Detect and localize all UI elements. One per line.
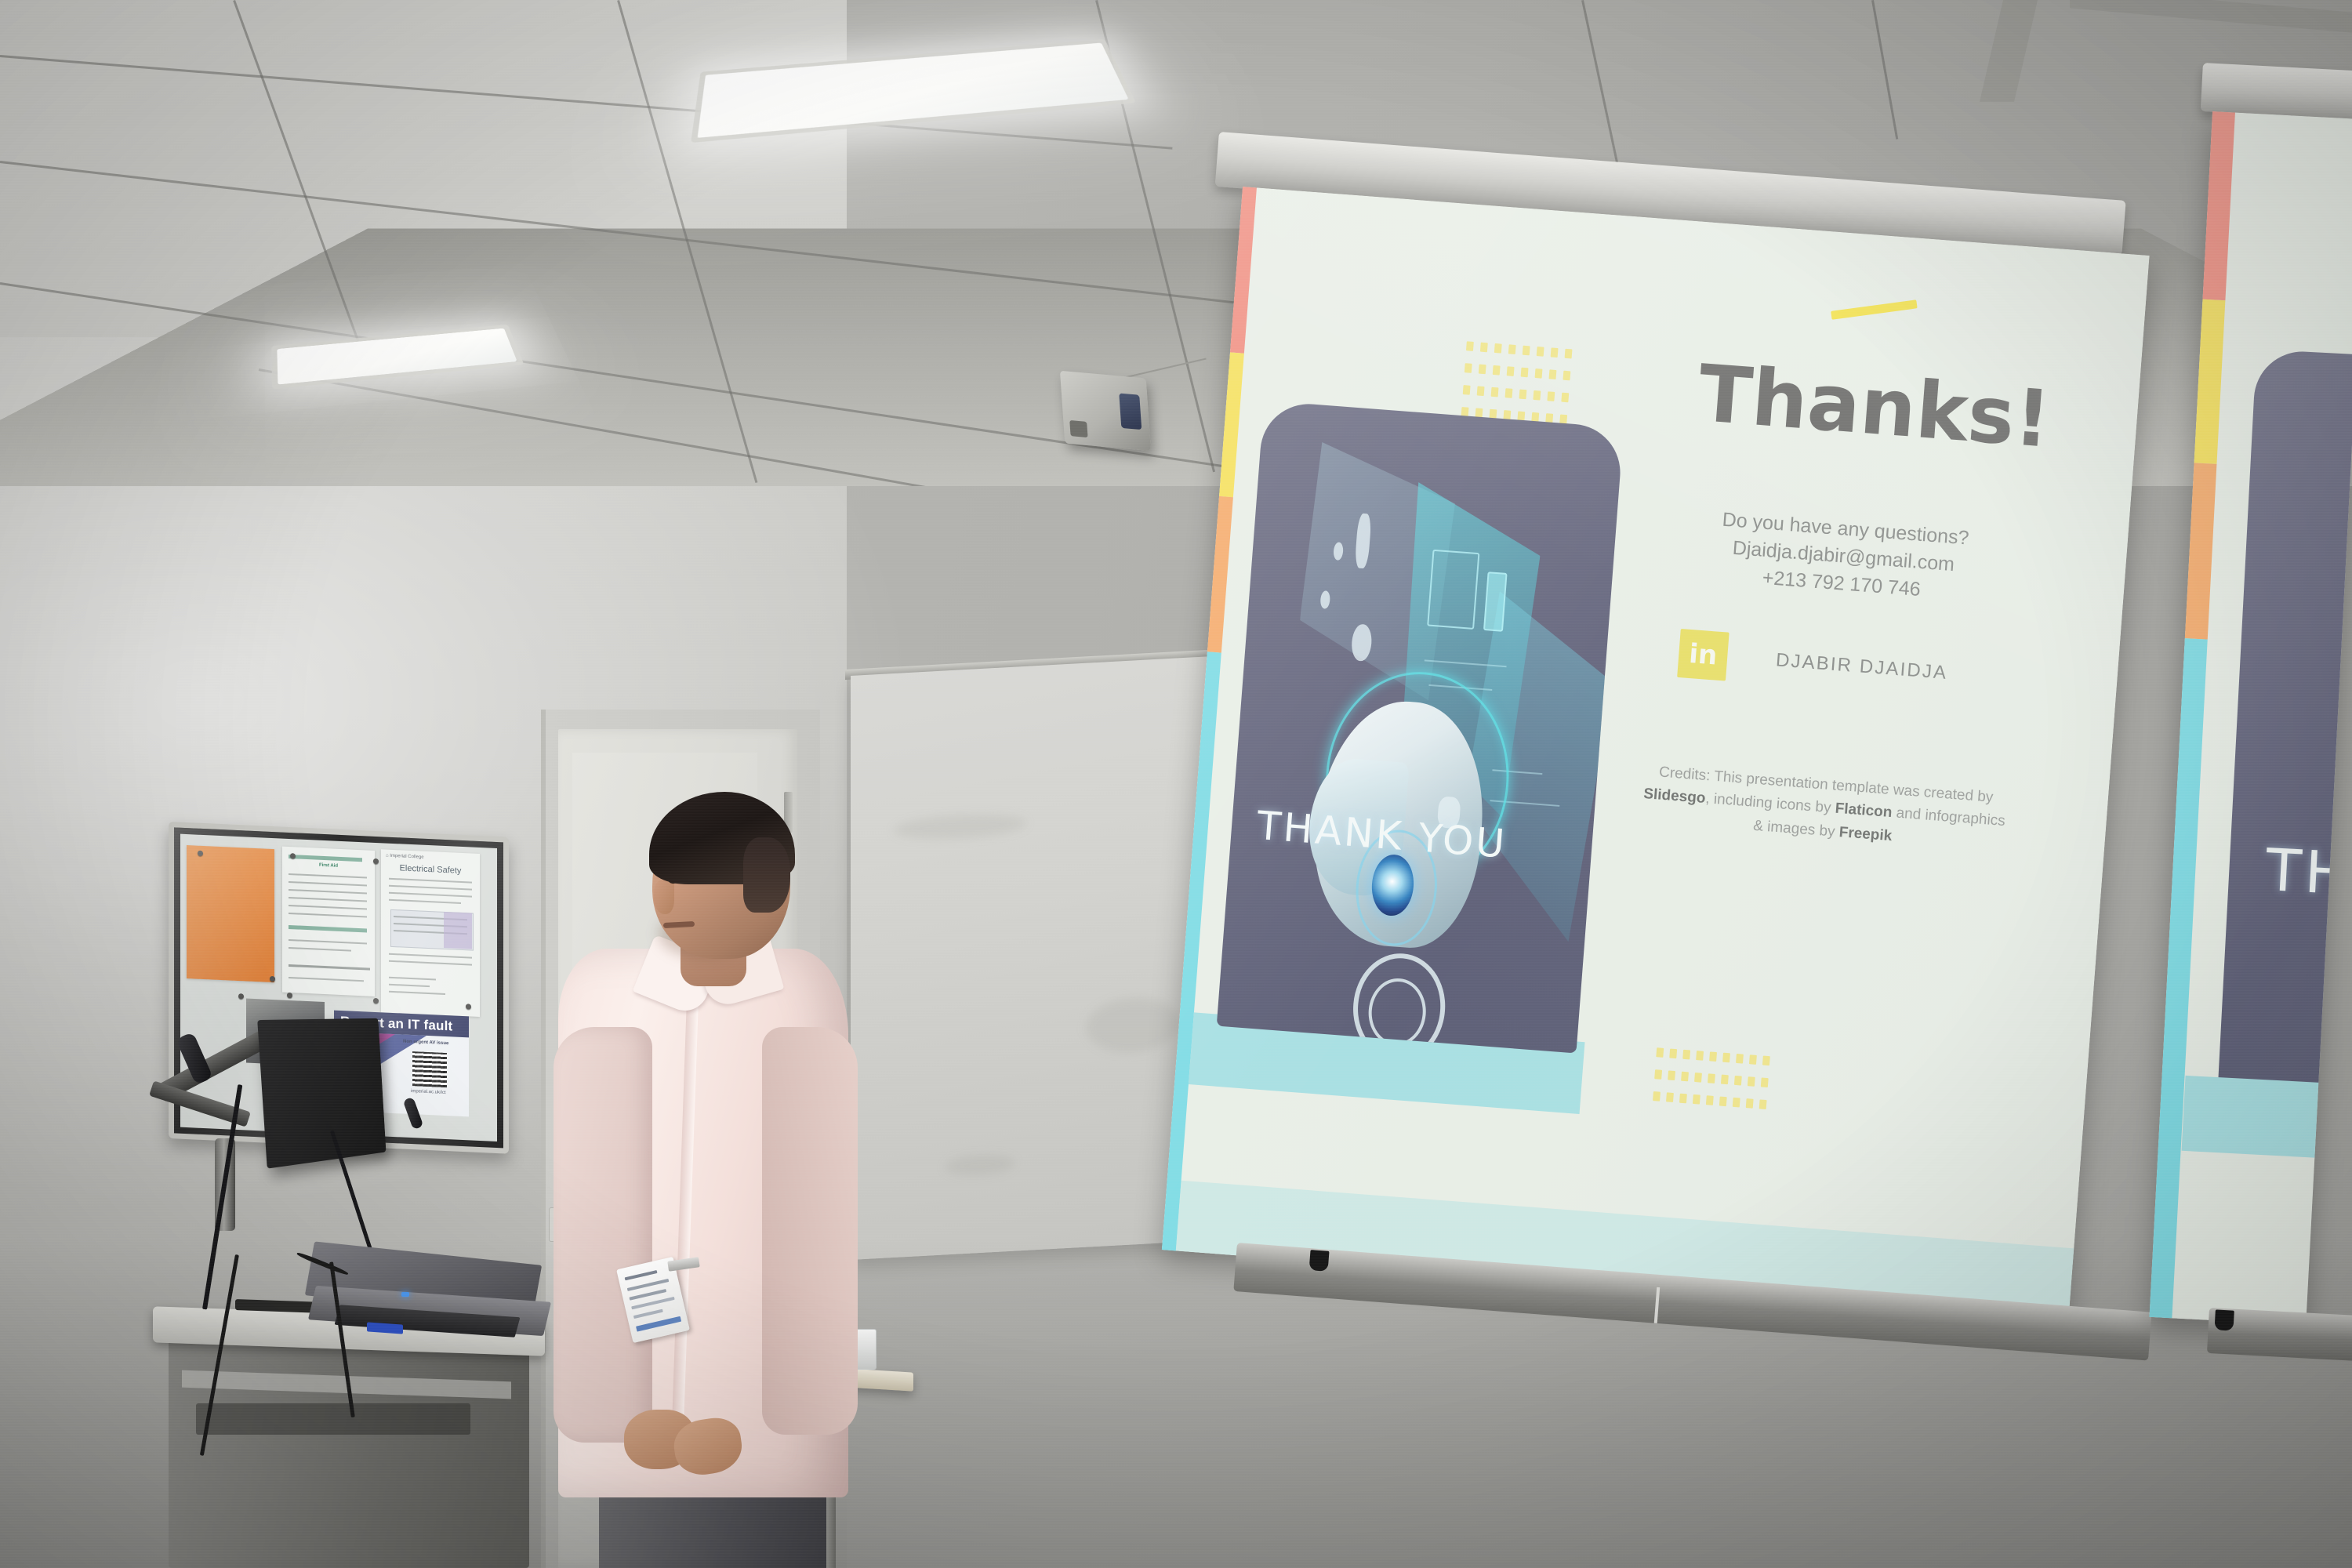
pin [238,993,244,999]
credits-line2-mid: , including icons by [1705,790,1836,817]
accent-dash [1831,299,1917,320]
projection-screen-weight-bar-secondary [2207,1308,2352,1361]
presenter-arm-right [762,1027,858,1435]
pin [373,858,379,864]
projection-screen-main: THANK YOU Thanks! Do you have any questi… [1162,187,2150,1319]
wall-mounted-av-device [1060,371,1151,451]
linkedin-icon[interactable]: in [1677,629,1730,681]
presenter-name: DJABIR DJAIDJA [1775,649,1948,684]
credits-line3: & images by [1753,818,1840,840]
slide-thanks: THANK YOU Thanks! Do you have any questi… [1162,187,2150,1319]
poster-electrical-safety: ⌂ Imperial College Electrical Safety [381,849,480,1017]
poster-first-aid: First Aid [282,847,375,996]
slide-image-card: THANK YOU [1217,401,1624,1054]
lectern-panel [196,1403,470,1435]
qr-code [412,1051,447,1087]
robot-illustration [1281,418,1624,1053]
presenter-nose [654,880,674,914]
screen-pull-tab[interactable] [1654,1287,1660,1323]
ceiling-beam [2070,0,2352,33]
credits-brand-freepik: Freepik [1838,824,1893,844]
hud-chip-icon [1427,549,1480,629]
linkedin-glyph: in [1688,641,1718,670]
ceiling-light-near [698,43,1129,138]
lectern [169,1333,529,1568]
pin [287,993,292,998]
classroom-presentation-photo: First Aid ⌂ Imperial College Electrical … [0,0,2352,1568]
presenter [549,792,862,1568]
poster-orange [187,845,274,982]
device-lens [1119,393,1142,430]
pin [290,853,296,858]
pin [373,998,379,1004]
whiteboard-smudge [1086,995,1180,1054]
presenter-arm-left [554,1027,652,1443]
laptop-power-led [401,1292,409,1297]
poster-first-aid-title: First Aid [282,861,375,872]
pin [466,1004,471,1009]
pin [270,976,275,982]
whiteboard-smudge [945,1153,1015,1178]
credits-brand-slidesgo: Slidesgo [1643,786,1707,807]
slide-title: Thanks! [1695,347,2053,466]
screen-bar-clip [1308,1250,1329,1272]
credits-brand-flaticon: Flaticon [1835,800,1893,821]
poster-electrical-title: Electrical Safety [381,862,480,879]
pin [198,851,203,856]
presenter-credit-row: in DJABIR DJAIDJA [1677,629,1949,698]
presenter-hair-side [743,837,790,913]
ceiling-grid-line [1871,0,1898,140]
dot-pattern-lower [1652,1047,1777,1122]
whiteboard-smudge [894,811,1027,842]
screen-bar-clip-secondary [2215,1309,2234,1330]
credits-line2-post: and infographics [1892,805,2006,830]
ceiling-beam [1980,0,2038,102]
desk-monitor [257,1018,386,1169]
device-vent [1069,420,1087,437]
slide-credits: Credits: This presentation template was … [1588,756,2062,861]
